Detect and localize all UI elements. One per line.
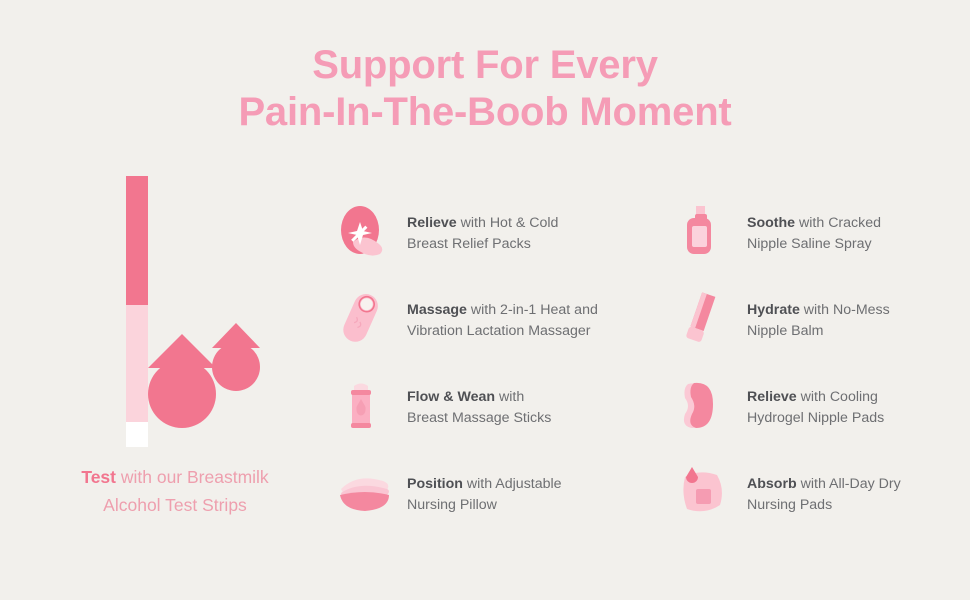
feature-text: Soothe with Cracked Nipple Saline Spray xyxy=(747,213,970,255)
test-strip-middle-segment xyxy=(126,305,148,422)
page-title: Support For Every Pain-In-The-Boob Momen… xyxy=(0,42,970,136)
milk-droplet-small-icon xyxy=(212,343,260,391)
feature-item: Massage with 2-in-1 Heat and Vibration L… xyxy=(335,287,635,374)
feature-bold-label: Hydrate xyxy=(747,302,800,318)
feature-text: Hydrate with No-Mess Nipple Balm xyxy=(747,300,970,342)
feature-bold-label: Relieve xyxy=(747,389,797,405)
feature-rest-label: with Cooling xyxy=(797,389,878,405)
feature-text: Relieve with Cooling Hydrogel Nipple Pad… xyxy=(747,387,970,429)
feature-line-2: Hydrogel Nipple Pads xyxy=(747,410,884,426)
feature-bold-label: Soothe xyxy=(747,215,795,231)
feature-line-2: Nursing Pillow xyxy=(407,497,497,513)
feature-item: Absorb with All-Day Dry Nursing Pads xyxy=(675,461,970,548)
feature-line-2: Breast Relief Packs xyxy=(407,236,531,252)
hero-caption-bold: Test xyxy=(81,467,116,487)
feature-line-2: Vibration Lactation Massager xyxy=(407,323,591,339)
saline-spray-bottle-icon xyxy=(675,202,737,260)
feature-item: Relieve with Hot & Cold Breast Relief Pa… xyxy=(335,200,635,287)
test-strip-top-segment xyxy=(126,176,148,305)
feature-bold-label: Massage xyxy=(407,302,467,318)
feature-text: Absorb with All-Day Dry Nursing Pads xyxy=(747,474,970,516)
feature-rest-label: with xyxy=(495,389,524,405)
lactation-massager-icon xyxy=(335,289,397,347)
feature-rest-label: with Hot & Cold xyxy=(457,215,559,231)
feature-item: Hydrate with No-Mess Nipple Balm xyxy=(675,287,970,374)
breast-relief-pack-icon xyxy=(335,202,397,260)
feature-line-2: Nipple Balm xyxy=(747,323,824,339)
feature-rest-label: with Adjustable xyxy=(463,476,562,492)
page-title-line-1: Support For Every xyxy=(0,42,970,89)
feature-rest-label: with No-Mess xyxy=(800,302,890,318)
feature-line-2: Nursing Pads xyxy=(747,497,832,513)
hero-caption: Test with our Breastmilk Alcohol Test St… xyxy=(40,463,310,519)
test-strip-icon xyxy=(126,176,148,446)
hero-test-strip-panel: Test with our Breastmilk Alcohol Test St… xyxy=(40,165,310,525)
hydrogel-nipple-pad-icon xyxy=(675,376,737,434)
feature-rest-label: with All-Day Dry xyxy=(797,476,901,492)
feature-item: Soothe with Cracked Nipple Saline Spray xyxy=(675,200,970,287)
feature-bold-label: Position xyxy=(407,476,463,492)
feature-text: Relieve with Hot & Cold Breast Relief Pa… xyxy=(407,213,635,255)
feature-item: Flow & Wean with Breast Massage Sticks xyxy=(335,374,635,461)
nursing-pillow-icon xyxy=(335,463,397,521)
breast-massage-stick-icon xyxy=(335,376,397,434)
feature-rest-label: with Cracked xyxy=(795,215,881,231)
test-strip-white-tip xyxy=(126,422,148,447)
feature-line-2: Nipple Saline Spray xyxy=(747,236,872,252)
feature-rest-label: with 2-in-1 Heat and xyxy=(467,302,598,318)
feature-column-left: Relieve with Hot & Cold Breast Relief Pa… xyxy=(335,200,635,548)
feature-text: Flow & Wean with Breast Massage Sticks xyxy=(407,387,635,429)
feature-text: Position with Adjustable Nursing Pillow xyxy=(407,474,635,516)
nursing-pad-icon xyxy=(675,463,737,521)
feature-text: Massage with 2-in-1 Heat and Vibration L… xyxy=(407,300,635,342)
feature-bold-label: Flow & Wean xyxy=(407,389,495,405)
feature-bold-label: Absorb xyxy=(747,476,797,492)
nipple-balm-tube-icon xyxy=(675,289,737,347)
feature-item: Position with Adjustable Nursing Pillow xyxy=(335,461,635,548)
milk-droplet-large-icon xyxy=(148,360,216,428)
feature-bold-label: Relieve xyxy=(407,215,457,231)
feature-line-2: Breast Massage Sticks xyxy=(407,410,551,426)
hero-caption-line-2: Alcohol Test Strips xyxy=(103,495,247,515)
feature-column-right: Soothe with Cracked Nipple Saline Spray … xyxy=(675,200,970,548)
hero-caption-rest: with our Breastmilk xyxy=(116,467,269,487)
page-title-line-2: Pain-In-The-Boob Moment xyxy=(0,89,970,136)
feature-item: Relieve with Cooling Hydrogel Nipple Pad… xyxy=(675,374,970,461)
